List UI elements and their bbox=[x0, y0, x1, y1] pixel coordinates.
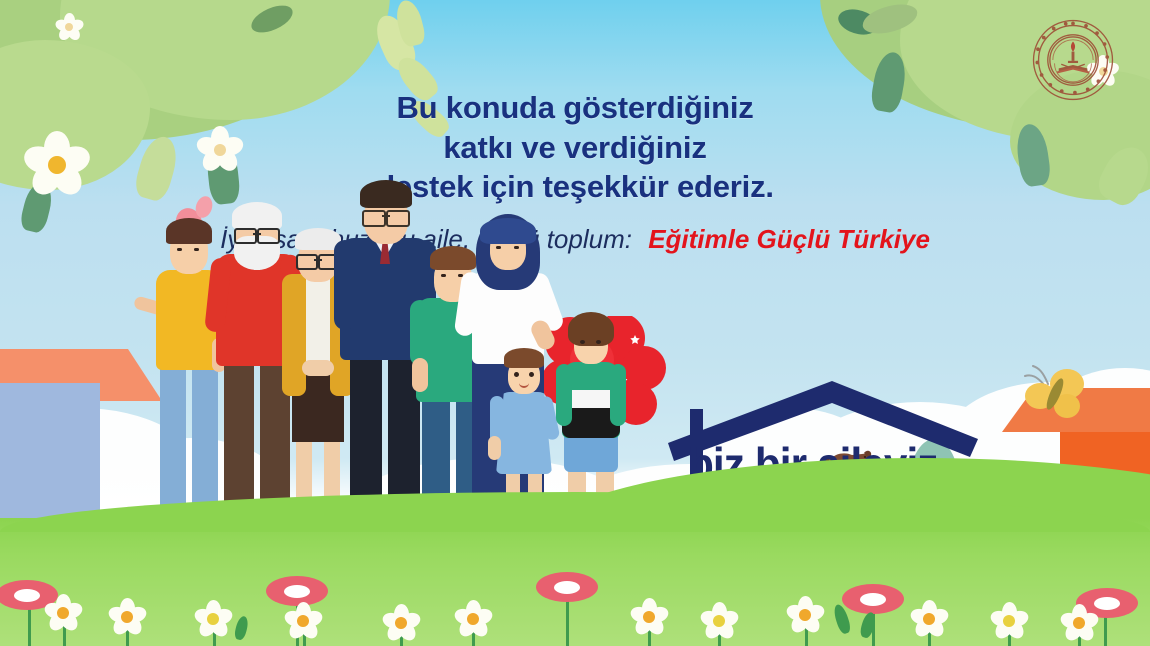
eye bbox=[580, 340, 585, 344]
hair bbox=[504, 348, 544, 368]
flower-stem bbox=[28, 604, 31, 646]
eye bbox=[514, 372, 519, 377]
eye bbox=[529, 372, 534, 377]
hair bbox=[166, 218, 212, 244]
daisy-icon bbox=[456, 602, 490, 636]
daisy-icon bbox=[1062, 606, 1096, 640]
pink-flower-icon bbox=[842, 584, 904, 614]
legs bbox=[350, 352, 382, 510]
leaf-icon bbox=[370, 10, 420, 73]
arm bbox=[412, 358, 428, 392]
daisy-icon bbox=[702, 604, 736, 638]
daisy-icon bbox=[992, 604, 1026, 638]
leaf-icon bbox=[835, 3, 881, 41]
daisy-icon bbox=[384, 606, 418, 640]
hair bbox=[232, 202, 282, 230]
arm bbox=[556, 364, 572, 426]
eye bbox=[177, 248, 182, 251]
daisy-icon bbox=[110, 600, 144, 634]
headline-line-3: destek için teşekkür ederiz. bbox=[0, 167, 1150, 207]
eye bbox=[194, 248, 199, 251]
cardigan bbox=[282, 274, 306, 396]
arm bbox=[410, 300, 430, 366]
eye bbox=[441, 274, 446, 277]
page-title: Bu konuda gösterdiğiniz katkı ve verdiği… bbox=[0, 88, 1150, 207]
daisy-icon bbox=[56, 14, 82, 40]
pink-flower-icon bbox=[266, 576, 328, 606]
arm bbox=[334, 240, 356, 330]
daisy-icon bbox=[632, 600, 666, 634]
leaf-icon bbox=[393, 0, 427, 48]
daisy-icon bbox=[788, 598, 822, 632]
hijab-front bbox=[480, 218, 536, 244]
leaf-icon bbox=[248, 2, 297, 37]
eye bbox=[514, 246, 519, 249]
butterfly-icon bbox=[1015, 358, 1095, 428]
leaf-icon bbox=[860, 1, 920, 36]
daisy-icon bbox=[912, 602, 946, 636]
daisy-icon bbox=[196, 602, 230, 636]
slogan-text: Eğitimle Güçlü Türkiye bbox=[648, 224, 930, 254]
hair bbox=[568, 312, 614, 346]
arm bbox=[488, 436, 501, 460]
house-left-body bbox=[0, 383, 100, 528]
poster-canvas: Bu konuda gösterdiğiniz katkı ve verdiği… bbox=[0, 0, 1150, 646]
eye bbox=[496, 246, 501, 249]
pink-flower-icon bbox=[536, 572, 598, 602]
daisy-icon bbox=[46, 596, 80, 630]
legs bbox=[160, 360, 186, 510]
arm bbox=[610, 364, 626, 426]
glasses-icon bbox=[362, 210, 410, 223]
hands bbox=[302, 360, 334, 376]
headline-line-2: katkı ve verdiğiniz bbox=[0, 128, 1150, 168]
legs bbox=[224, 356, 254, 506]
headline-line-1: Bu konuda gösterdiğiniz bbox=[0, 88, 1150, 128]
glasses-icon bbox=[234, 228, 280, 240]
eye bbox=[596, 340, 601, 344]
daisy-icon bbox=[286, 604, 320, 638]
hair bbox=[360, 180, 412, 208]
